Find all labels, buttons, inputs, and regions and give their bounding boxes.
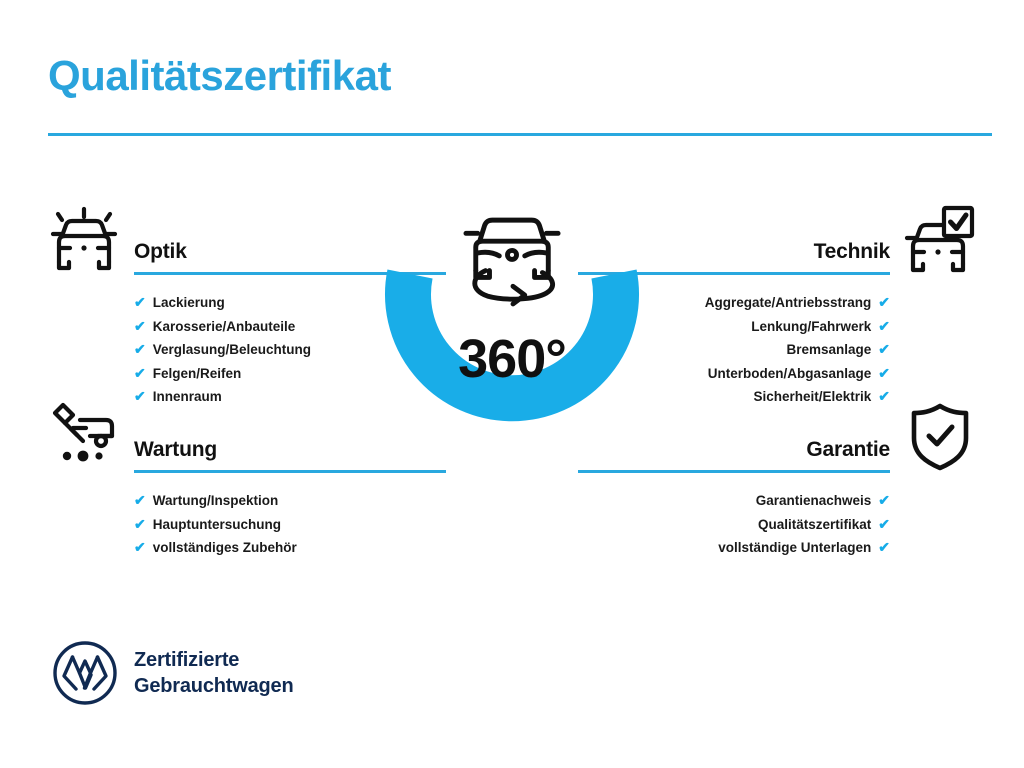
car-checkbox-icon bbox=[902, 200, 978, 276]
check-icon: ✔ bbox=[134, 489, 146, 513]
list-item: Qualitätszertifikat✔ bbox=[578, 513, 890, 537]
vw-certified-line2: Gebrauchtwagen bbox=[134, 673, 293, 699]
list-item-label: Lackierung bbox=[153, 291, 225, 315]
list-item-label: vollständiges Zubehör bbox=[153, 536, 297, 560]
list-item: ✔Wartung/Inspektion bbox=[134, 489, 446, 513]
list-item-label: Wartung/Inspektion bbox=[153, 489, 279, 513]
check-icon: ✔ bbox=[878, 291, 890, 315]
list-item-label: vollständige Unterlagen bbox=[718, 536, 871, 560]
check-icon: ✔ bbox=[878, 513, 890, 537]
vw-logo bbox=[52, 640, 118, 706]
list-item-label: Aggregate/Antriebsstrang bbox=[705, 291, 872, 315]
vw-certified-lockup: Zertifizierte Gebrauchtwagen bbox=[52, 640, 293, 706]
shield-check-icon bbox=[902, 398, 978, 474]
section-list: Garantienachweis✔ Qualitätszertifikat✔ v… bbox=[578, 489, 890, 560]
car-rotate-icon bbox=[466, 220, 558, 304]
vw-certified-line1: Zertifizierte bbox=[134, 647, 293, 673]
list-item: Garantienachweis✔ bbox=[578, 489, 890, 513]
title-divider bbox=[48, 133, 992, 136]
car-shine-icon bbox=[46, 200, 122, 276]
check-icon: ✔ bbox=[134, 362, 146, 386]
pencil-car-icon bbox=[46, 398, 122, 474]
list-item: ✔vollständiges Zubehör bbox=[134, 536, 446, 560]
check-icon: ✔ bbox=[134, 536, 146, 560]
list-item: vollständige Unterlagen✔ bbox=[578, 536, 890, 560]
check-icon: ✔ bbox=[878, 362, 890, 386]
check-icon: ✔ bbox=[134, 338, 146, 362]
list-item-label: Bremsanlage bbox=[786, 338, 871, 362]
check-icon: ✔ bbox=[134, 291, 146, 315]
check-icon: ✔ bbox=[134, 315, 146, 339]
list-item-label: Karosserie/Anbauteile bbox=[153, 315, 296, 339]
section-list: ✔Wartung/Inspektion ✔Hauptuntersuchung ✔… bbox=[134, 489, 446, 560]
badge-360-gebrauchtwagen-check: Gebrauchtwagen-Check 360° bbox=[372, 196, 652, 488]
list-item: ✔Hauptuntersuchung bbox=[134, 513, 446, 537]
list-item-label: Garantienachweis bbox=[756, 489, 872, 513]
list-item-label: Felgen/Reifen bbox=[153, 362, 242, 386]
list-item-label: Verglasung/Beleuchtung bbox=[153, 338, 311, 362]
list-item-label: Hauptuntersuchung bbox=[153, 513, 281, 537]
check-icon: ✔ bbox=[878, 489, 890, 513]
check-icon: ✔ bbox=[878, 315, 890, 339]
certificate-page: Qualitätszertifikat Optik bbox=[0, 0, 1024, 768]
check-icon: ✔ bbox=[878, 536, 890, 560]
list-item-label: Unterboden/Abgasanlage bbox=[708, 362, 872, 386]
check-icon: ✔ bbox=[878, 338, 890, 362]
badge-ring bbox=[408, 274, 616, 398]
list-item-label: Qualitätszertifikat bbox=[758, 513, 871, 537]
vw-certified-text: Zertifizierte Gebrauchtwagen bbox=[134, 647, 293, 699]
check-icon: ✔ bbox=[134, 513, 146, 537]
page-title: Qualitätszertifikat bbox=[48, 52, 391, 100]
list-item-label: Lenkung/Fahrwerk bbox=[751, 315, 871, 339]
